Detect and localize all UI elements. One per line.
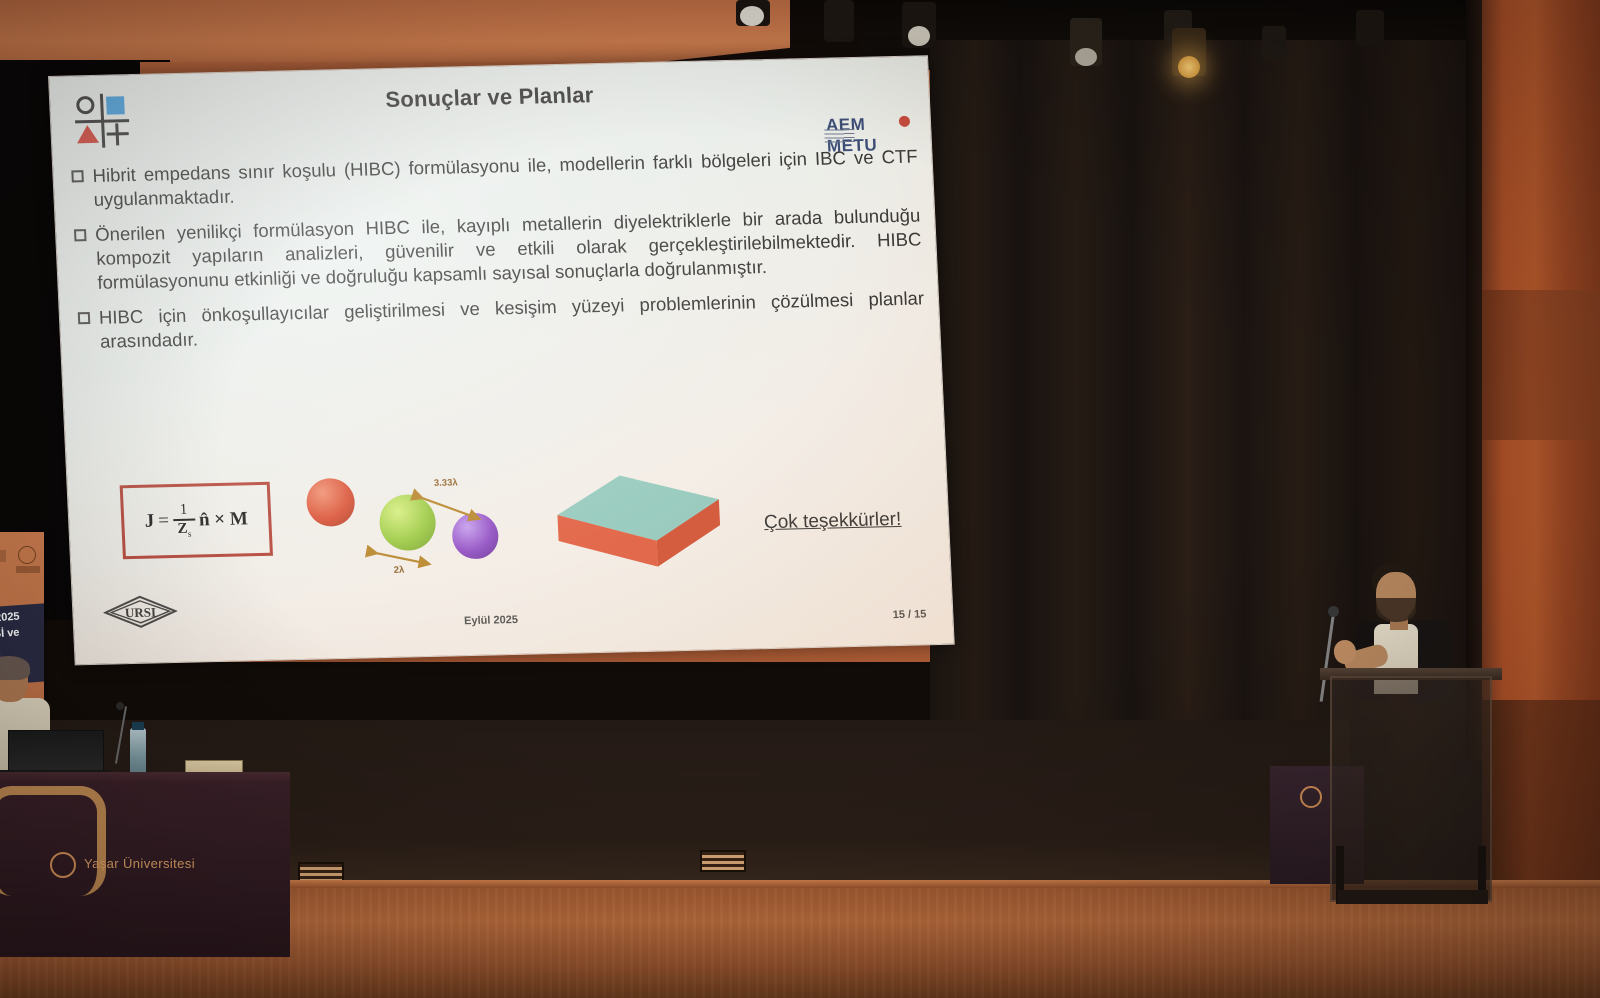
stage-vent-right <box>700 850 746 872</box>
checkbox-bullet-icon <box>71 170 84 182</box>
banner-title-lines: YE 2025 RESİ ve <box>0 608 44 645</box>
wood-wall-panel <box>1482 0 1600 720</box>
formula-fraction: 1 Zs <box>172 503 196 539</box>
stage-light-3 <box>902 2 936 48</box>
slide-page-number: 15 / 15 <box>892 608 926 621</box>
spacing-label-bottom: 2λ <box>394 565 405 576</box>
hibc-formula: J = 1 Zs n̂ × M <box>144 501 249 539</box>
slide-figure-row: J = 1 Zs n̂ × M <box>101 456 931 605</box>
podium: XII. URSI-Türkiye 2025 Bilimsel Kongresi <box>1330 676 1492 902</box>
formula-numerator: 1 <box>179 503 187 519</box>
laptop <box>8 730 104 772</box>
formula-lhs: J <box>144 511 154 533</box>
light-bulb <box>1075 48 1097 66</box>
slide-date: Eylül 2025 <box>464 614 518 627</box>
thanks-text: Çok teşekkürler! <box>764 509 902 534</box>
presenter-beard <box>1376 598 1416 622</box>
dielectric-slab-figure <box>541 465 736 574</box>
formula-denominator: Z <box>177 521 188 537</box>
projection-screen: Sonuçlar ve Planlar AEM METU Hibrit empe… <box>48 55 955 675</box>
light-bulb-warm <box>1178 56 1200 78</box>
triangle-icon <box>76 125 99 143</box>
stage-light-8 <box>1356 10 1384 46</box>
desk-banner-text: Yaşar Üniversitesi <box>84 856 195 871</box>
side-table-logo-icon <box>1300 786 1322 808</box>
bullet-text: Önerilen yenilikçi formülasyon HIBC ile,… <box>95 204 923 294</box>
yasar-logo-icon <box>50 852 76 878</box>
bullet-item: Önerilen yenilikçi formülasyon HIBC ile,… <box>74 204 923 295</box>
stage-light-4 <box>1070 18 1102 66</box>
svg-text:URSI: URSI <box>125 604 157 620</box>
slide-title: Sonuçlar ve Planlar <box>50 74 929 121</box>
conference-hall-photo: Sonuçlar ve Planlar AEM METU Hibrit empe… <box>0 0 1600 998</box>
distance-arrows <box>301 466 516 581</box>
banner-logos <box>0 546 42 586</box>
desk-banner-logo: Yaşar Üniversitesi <box>50 852 220 880</box>
formula-box: J = 1 Zs n̂ × M <box>120 482 273 559</box>
bullet-text: Hibrit empedans sınır koşulu (HIBC) form… <box>92 145 919 212</box>
bullet-item: Hibrit empedans sınır koşulu (HIBC) form… <box>71 145 919 212</box>
spacing-label-top: 3.33λ <box>434 477 458 489</box>
formula-den-sub: s <box>188 529 192 539</box>
bottle-cap <box>132 722 144 730</box>
stage-light-7 <box>1262 26 1286 60</box>
person-hair <box>0 656 30 680</box>
light-bulb <box>740 6 764 26</box>
ursi-logo: URSI <box>103 594 179 630</box>
podium-microphone-head <box>1328 606 1339 617</box>
formula-equals: = <box>158 510 170 532</box>
stage-light-2 <box>824 0 854 42</box>
stage-light-6 <box>1172 28 1206 76</box>
slide-bullet-list: Hibrit empedans sınır koşulu (HIBC) form… <box>71 145 926 366</box>
sphere-figure: 3.33λ 2λ <box>301 466 516 581</box>
stage-light-1 <box>736 0 770 26</box>
podium-base <box>1338 890 1488 904</box>
desk-microphone-head <box>116 702 124 710</box>
logo-lines <box>824 128 855 143</box>
formula-rhs: n̂ × M <box>199 508 249 531</box>
bullet-text: HIBC için önkoşullayıcılar geliştirilmes… <box>98 287 925 354</box>
checkbox-bullet-icon <box>74 229 87 241</box>
light-bulb <box>908 26 930 46</box>
checkbox-bullet-icon <box>78 312 91 324</box>
bullet-item: HIBC için önkoşullayıcılar geliştirilmes… <box>77 287 925 354</box>
